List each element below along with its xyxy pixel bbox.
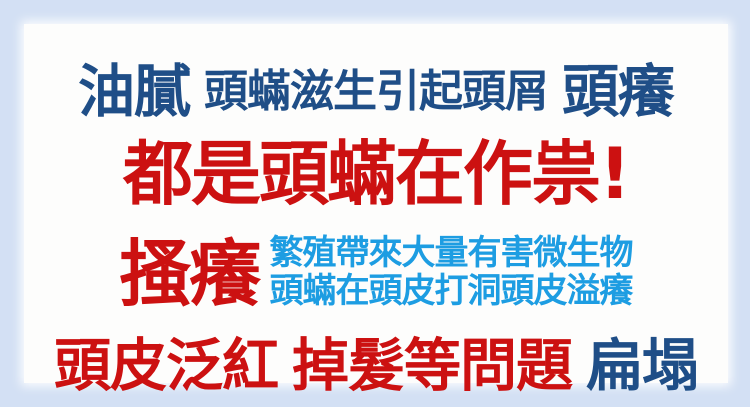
text-detail-line-1: 繁殖帶來大量有害微生物: [270, 236, 633, 270]
text-mite-dandruff: 頭蟎滋生引起頭屑: [204, 70, 548, 114]
text-scalp-redness: 頭皮泛紅: [54, 338, 278, 395]
text-scratch-itch: 搔癢: [119, 238, 259, 310]
headline-row-4: 頭皮泛紅 掉髮等問題 扁塌: [24, 330, 728, 402]
text-flat-hair: 扁塌: [586, 338, 698, 395]
text-itchy-scalp: 頭癢: [562, 64, 674, 121]
text-main-headline: 都是頭蟎在作祟!: [123, 139, 629, 209]
headline-row-1: 油膩 頭蟎滋生引起頭屑 頭癢: [24, 60, 728, 124]
banner-panel: 油膩 頭蟎滋生引起頭屑 頭癢 都是頭蟎在作祟! 搔癢 繁殖帶來大量有害微生物 頭…: [24, 24, 728, 383]
headline-row-2: 都是頭蟎在作祟!: [24, 132, 728, 216]
detail-text-stack: 繁殖帶來大量有害微生物 頭蟎在頭皮打洞頭皮溢癢: [270, 236, 633, 308]
text-oily: 油膩: [78, 64, 190, 121]
text-hair-loss: 掉髮等問題: [292, 338, 572, 395]
text-detail-line-2: 頭蟎在頭皮打洞頭皮溢癢: [270, 274, 633, 308]
promo-banner: 油膩 頭蟎滋生引起頭屑 頭癢 都是頭蟎在作祟! 搔癢 繁殖帶來大量有害微生物 頭…: [0, 0, 750, 407]
headline-row-3: 搔癢 繁殖帶來大量有害微生物 頭蟎在頭皮打洞頭皮溢癢: [24, 224, 728, 320]
